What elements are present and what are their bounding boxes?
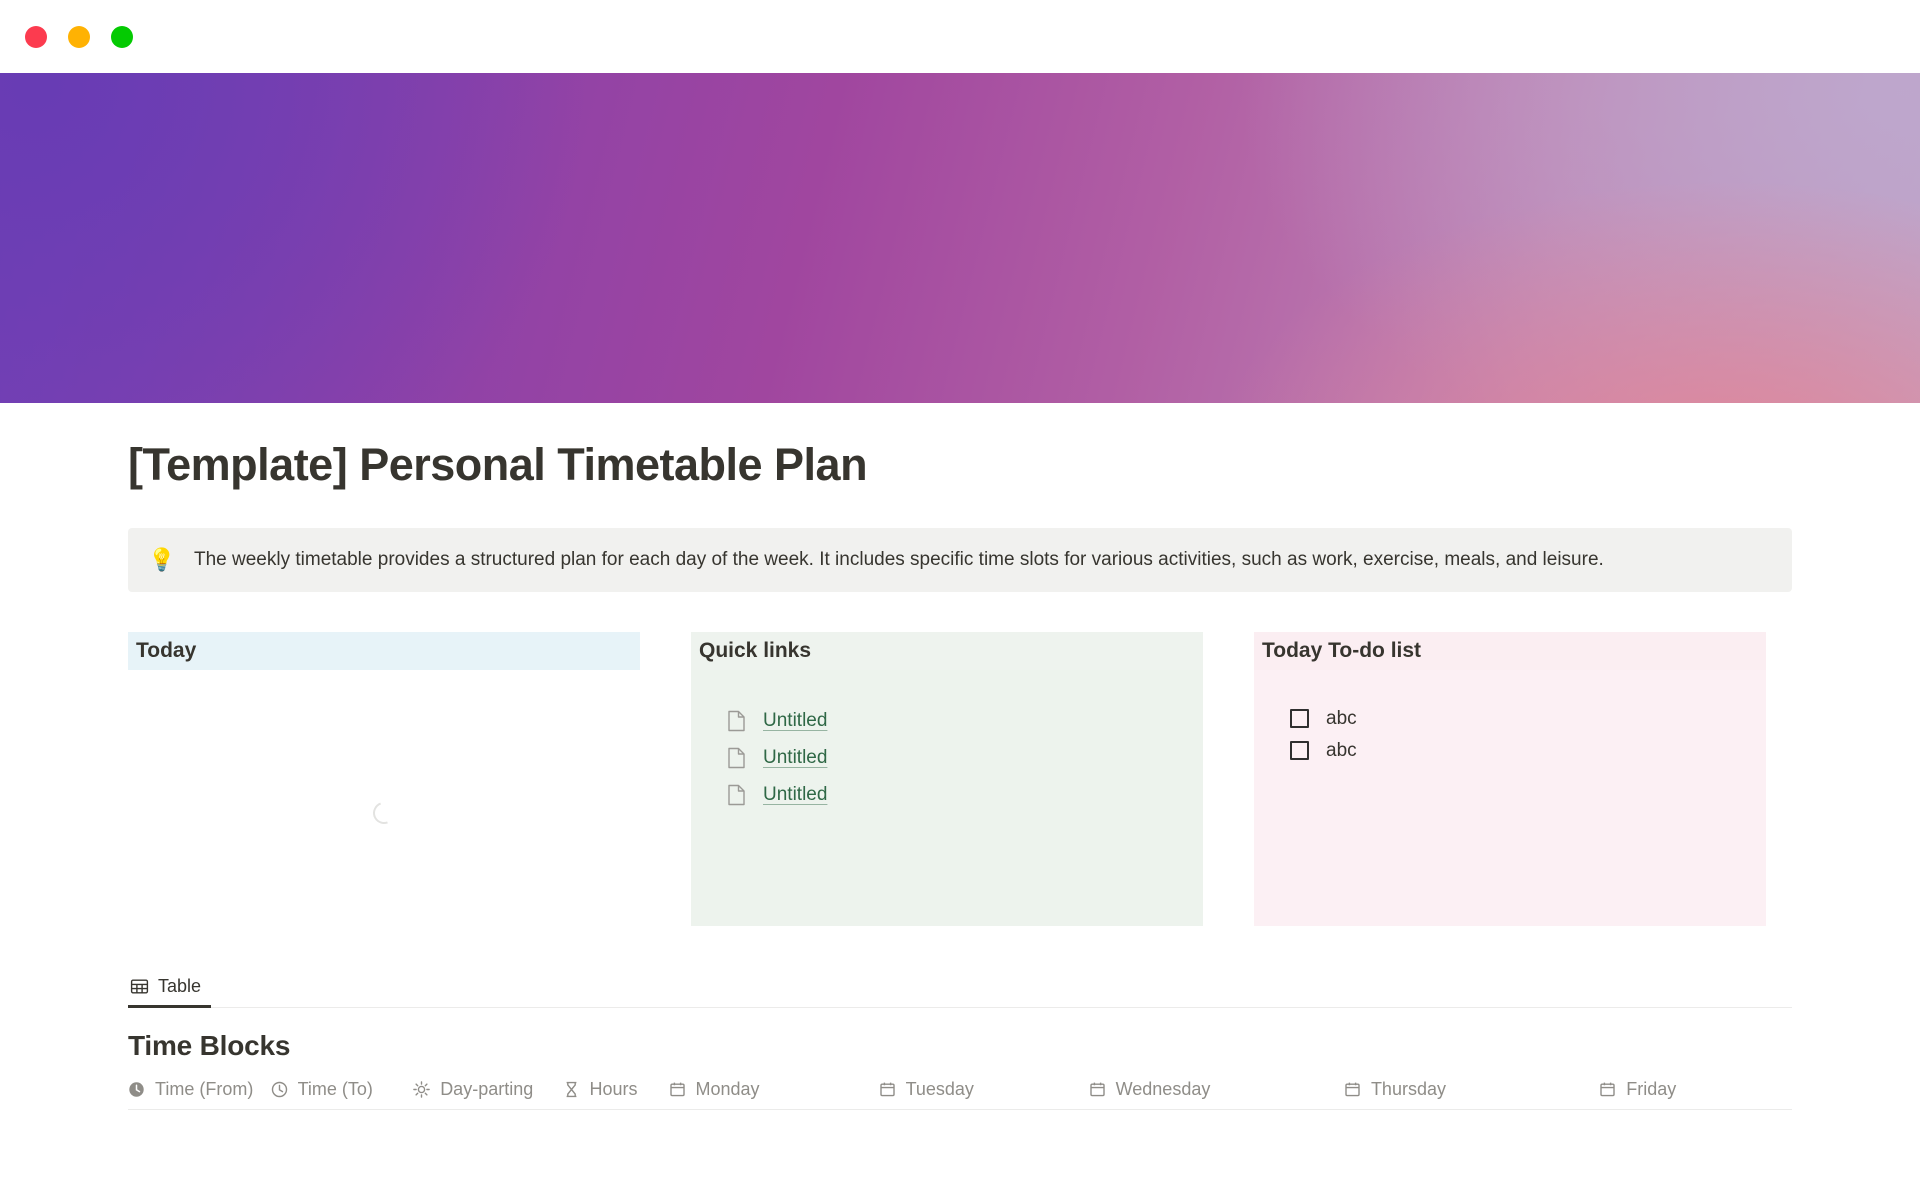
window-titlebar (0, 0, 1920, 73)
today-card-body (128, 670, 640, 926)
close-window-button[interactable] (25, 26, 47, 48)
callout-block[interactable]: 💡 The weekly timetable provides a struct… (128, 528, 1792, 592)
quick-links-card-header: Quick links (691, 632, 1203, 670)
quick-links-card-title: Quick links (699, 639, 811, 663)
list-item[interactable]: Untitled (727, 741, 1195, 776)
quick-link-label[interactable]: Untitled (763, 784, 827, 806)
minimize-window-button[interactable] (68, 26, 90, 48)
todo-card-header: Today To-do list (1254, 632, 1766, 670)
document-icon (727, 747, 746, 769)
database-title[interactable]: Time Blocks (128, 1030, 1792, 1062)
document-icon (727, 710, 746, 732)
column-header-label: Hours (590, 1079, 638, 1100)
callout-text: The weekly timetable provides a structur… (194, 546, 1604, 574)
maximize-window-button[interactable] (111, 26, 133, 48)
document-icon (727, 784, 746, 806)
today-card-title: Today (136, 639, 196, 663)
calendar-icon (1344, 1081, 1361, 1098)
column-header-label: Time (To) (298, 1079, 373, 1100)
list-item[interactable]: Untitled (727, 778, 1195, 813)
column-header-day-parting[interactable]: Day-parting (413, 1069, 562, 1109)
column-header-thursday[interactable]: Thursday (1344, 1069, 1599, 1109)
column-header-hours[interactable]: Hours (563, 1069, 669, 1109)
column-header-label: Monday (696, 1079, 760, 1100)
calendar-icon (1599, 1081, 1616, 1098)
database-view-tabs: Table (128, 968, 1792, 1008)
column-header-monday[interactable]: Monday (669, 1069, 879, 1109)
column-header-label: Wednesday (1116, 1079, 1211, 1100)
page-cover-image[interactable] (0, 73, 1920, 403)
column-header-tuesday[interactable]: Tuesday (879, 1069, 1089, 1109)
list-item[interactable]: abc (1290, 735, 1758, 767)
column-header-label: Friday (1626, 1079, 1676, 1100)
column-header-label: Thursday (1371, 1079, 1446, 1100)
todo-card-body: abc abc (1254, 670, 1766, 926)
todo-checkbox[interactable] (1290, 709, 1309, 728)
traffic-lights (25, 26, 133, 48)
list-item[interactable]: abc (1290, 703, 1758, 735)
column-header-label: Tuesday (906, 1079, 974, 1100)
dashboard-cards-row: Today Quick links (128, 632, 1792, 926)
page-content: [Template] Personal Timetable Plan 💡 The… (0, 403, 1920, 1110)
column-header-time-from[interactable]: Time (From) (128, 1069, 271, 1109)
todo-card-title: Today To-do list (1262, 639, 1421, 663)
loading-spinner (369, 798, 398, 827)
list-item[interactable]: Untitled (727, 704, 1195, 739)
todo-card: Today To-do list abc abc (1254, 632, 1766, 926)
calendar-icon (879, 1081, 896, 1098)
column-header-time-to[interactable]: Time (To) (271, 1069, 414, 1109)
calendar-icon (669, 1081, 686, 1098)
calendar-icon (1089, 1081, 1106, 1098)
table-header-row: Time (From) Time (To) (128, 1070, 1792, 1110)
database-section: Table Time Blocks Time (From) (128, 968, 1792, 1110)
todo-label[interactable]: abc (1326, 708, 1357, 730)
hourglass-icon (563, 1081, 580, 1098)
page-title[interactable]: [Template] Personal Timetable Plan (128, 439, 1792, 491)
quick-links-card: Quick links Untitled (691, 632, 1203, 926)
quick-links-card-body: Untitled Untitled (691, 670, 1203, 926)
column-header-wednesday[interactable]: Wednesday (1089, 1069, 1344, 1109)
quick-link-label[interactable]: Untitled (763, 710, 827, 732)
todo-checkbox[interactable] (1290, 741, 1309, 760)
clock-filled-icon (128, 1081, 145, 1098)
column-header-label: Day-parting (440, 1079, 533, 1100)
tab-table-label: Table (158, 976, 201, 997)
tab-table[interactable]: Table (128, 967, 211, 1007)
column-header-label: Time (From) (155, 1079, 253, 1100)
todo-label[interactable]: abc (1326, 740, 1357, 762)
column-header-friday[interactable]: Friday (1599, 1069, 1792, 1109)
sun-icon (413, 1081, 430, 1098)
clock-outline-icon (271, 1081, 288, 1098)
quick-link-label[interactable]: Untitled (763, 747, 827, 769)
today-card-header: Today (128, 632, 640, 670)
lightbulb-icon: 💡 (148, 549, 176, 571)
table-icon (130, 977, 149, 996)
today-card: Today (128, 632, 640, 926)
